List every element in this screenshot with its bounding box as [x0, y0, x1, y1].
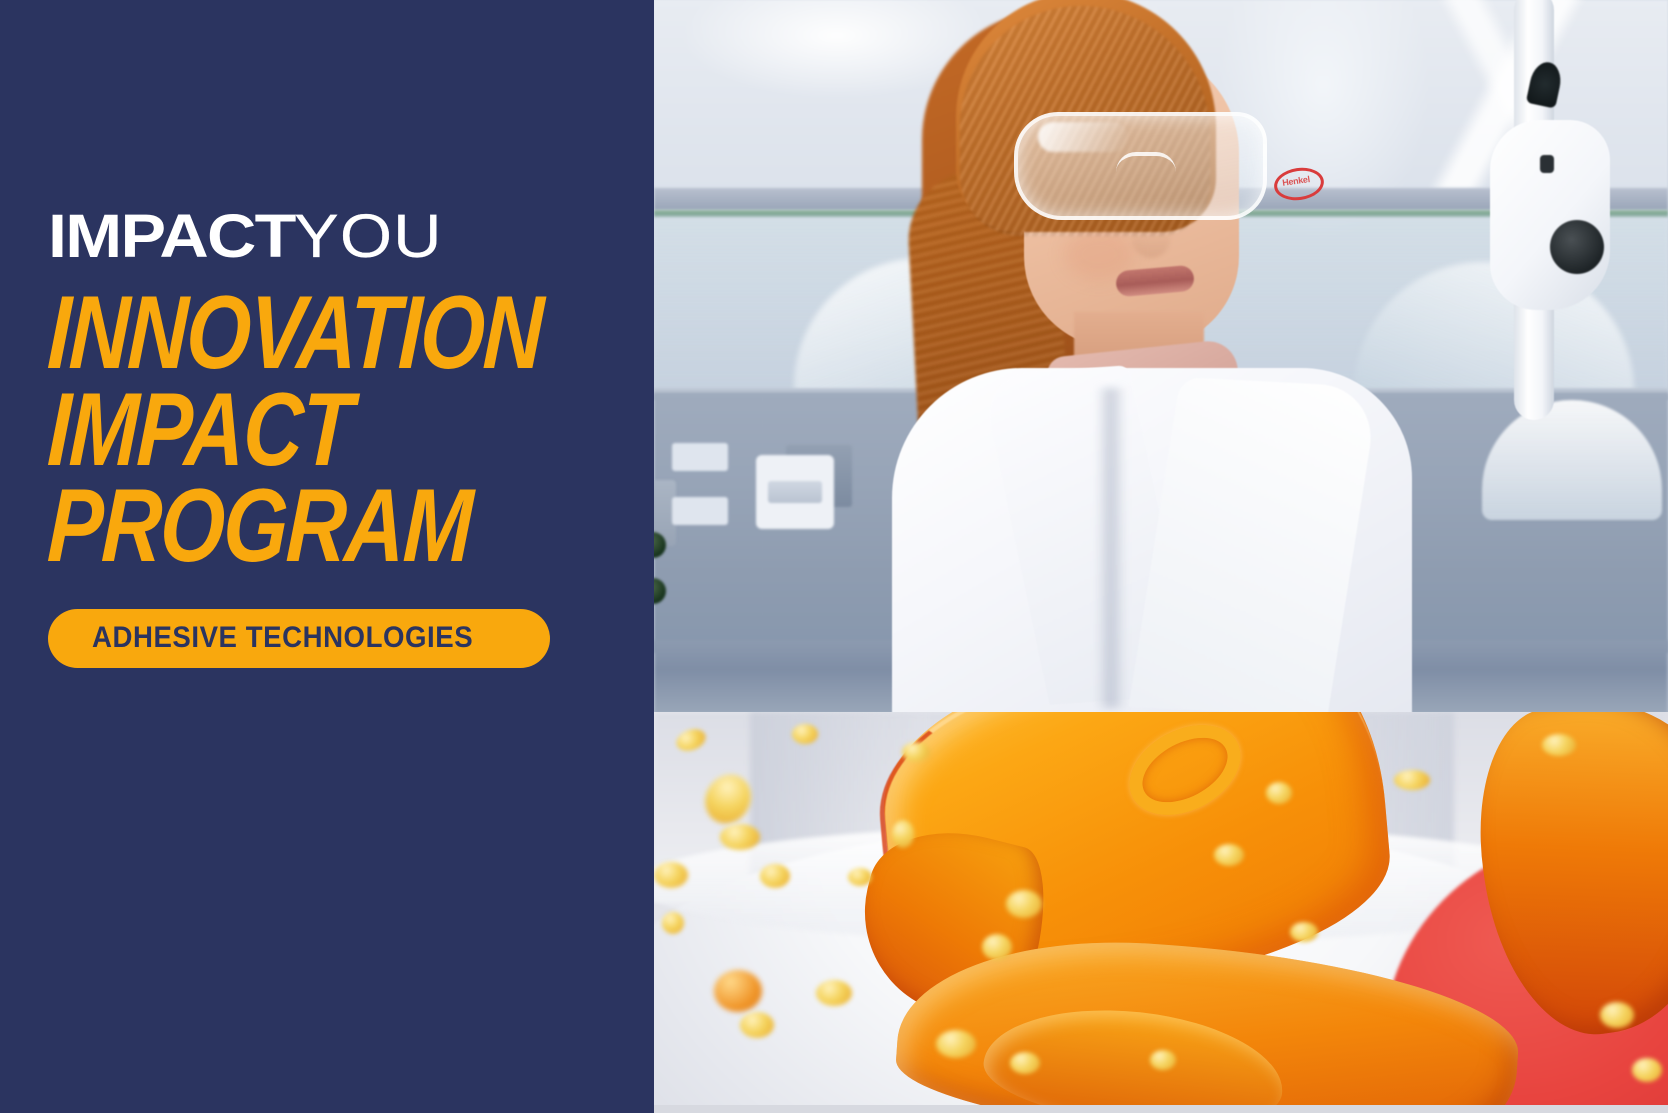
- lab-arm-small-knob-icon: [1540, 155, 1554, 173]
- goggles-reflection: [1038, 122, 1128, 152]
- droplet: [1632, 1058, 1662, 1082]
- droplet: [720, 824, 760, 850]
- droplet: [1394, 770, 1430, 790]
- headline-line-2: IMPACT: [46, 382, 506, 479]
- left-navy-panel: IMPACT YOU INNOVATION IMPACT PROGRAM ADH…: [0, 0, 654, 1113]
- droplet: [936, 1030, 976, 1058]
- lab-label-plate: [672, 443, 728, 471]
- marketing-banner: IMPACT YOU INNOVATION IMPACT PROGRAM ADH…: [0, 0, 1668, 1113]
- droplet: [1266, 782, 1292, 804]
- lab-arm-knob-icon: [1550, 220, 1604, 274]
- droplet: [1150, 1050, 1176, 1070]
- lab-scientist: Henkel: [864, 0, 1424, 712]
- impact-you-logo: IMPACT YOU: [48, 206, 618, 267]
- headline: INNOVATION IMPACT PROGRAM: [48, 285, 618, 575]
- lab-coat-fold-shadow: [1096, 388, 1126, 708]
- droplet: [1006, 890, 1042, 918]
- droplet: [792, 724, 818, 744]
- logo-word-impact: IMPACT: [48, 206, 295, 267]
- droplet: [654, 862, 688, 888]
- right-image-column: Henkel: [654, 0, 1668, 1113]
- droplet: [1010, 1052, 1040, 1074]
- droplet: [1214, 844, 1244, 866]
- photo-adhesive-flow: [654, 712, 1668, 1113]
- droplet: [892, 820, 914, 848]
- droplet: [1600, 1002, 1634, 1028]
- panel-content: IMPACT YOU INNOVATION IMPACT PROGRAM ADH…: [48, 206, 618, 668]
- lab-arm-head: [1490, 120, 1610, 310]
- bottom-edge-strip: [654, 1105, 1668, 1113]
- droplet: [714, 970, 762, 1012]
- droplet: [848, 868, 872, 886]
- droplet: [816, 980, 852, 1006]
- goggles-bridge: [1116, 152, 1176, 182]
- droplet: [740, 1012, 774, 1038]
- droplet: [1290, 922, 1318, 942]
- droplet: [982, 934, 1012, 960]
- droplet: [1542, 734, 1576, 756]
- logo-word-you: YOU: [294, 206, 443, 267]
- photo-lab-scientist: Henkel: [654, 0, 1668, 712]
- droplet: [760, 864, 790, 888]
- headline-line-3: PROGRAM: [46, 478, 506, 575]
- droplet: [662, 912, 684, 934]
- business-unit-pill: ADHESIVE TECHNOLOGIES: [48, 609, 550, 668]
- pill-label: ADHESIVE TECHNOLOGIES: [92, 623, 473, 653]
- droplet: [902, 742, 930, 762]
- lab-label-plate: [672, 497, 728, 525]
- headline-line-1: INNOVATION: [46, 285, 506, 382]
- switch-icon: [756, 455, 834, 529]
